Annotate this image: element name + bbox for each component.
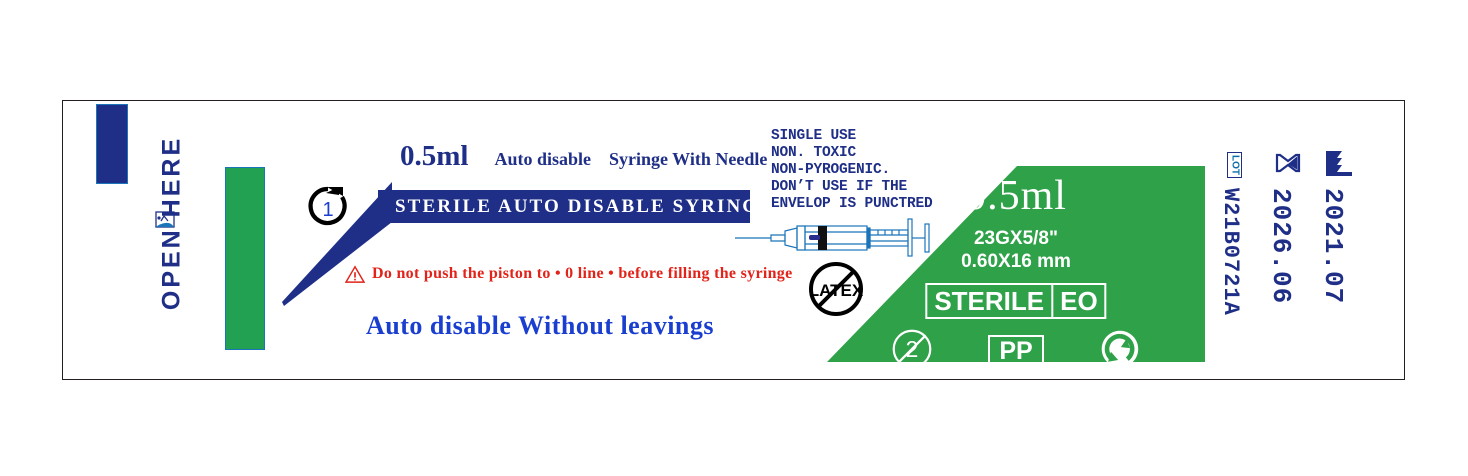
manufacture-date: 2021.07 xyxy=(1318,188,1348,304)
material-pp-badge: PP xyxy=(988,335,1043,367)
factory-icon xyxy=(1324,149,1354,177)
do-not-reuse-icon: 1 xyxy=(305,183,351,229)
notice-line: SINGLE USE xyxy=(771,128,933,145)
lot-symbol-box: LOT xyxy=(1227,152,1242,178)
green-panel-gauge: 23GX5/8" xyxy=(827,228,1205,250)
headline-volume: 0.5ml xyxy=(400,140,468,172)
sterile-label: STERILE xyxy=(927,285,1051,317)
green-panel-content: 0.5ml 23GX5/8" 0.60X16 mm STERILE EO 2 P… xyxy=(827,166,1205,362)
green-panel-volume: 0.5ml xyxy=(827,172,1205,220)
piston-warning-text: Do not push the piston to • 0 line • bef… xyxy=(372,265,793,283)
vertical-strip-dimensions: 0.60X16 mm xyxy=(117,267,130,377)
vertical-strip-gauge: 23GX5/8" xyxy=(101,267,117,377)
do-not-reuse-digit: 1 xyxy=(322,199,333,221)
sterile-banner: STERILE AUTO DISABLE SYRINGE xyxy=(378,190,750,223)
headline-row: 0.5ml Auto disable Syringe With Needle xyxy=(400,140,767,173)
hourglass-icon xyxy=(1275,150,1301,176)
lot-label: LOT xyxy=(1229,155,1240,175)
notice-line: NON. TOXIC xyxy=(771,145,933,162)
headline-device: Syringe With Needle xyxy=(609,149,767,169)
tagline: Auto disable Without leavings xyxy=(366,311,714,341)
piston-warning: Do not push the piston to • 0 line • bef… xyxy=(345,265,793,283)
sterile-method: EO xyxy=(1051,285,1105,317)
green-spec-panel: 0.5ml 23GX5/8" 0.60X16 mm STERILE EO 2 P… xyxy=(827,166,1205,362)
expiry-date: 2026.06 xyxy=(1266,188,1296,304)
recycle-arrow-icon xyxy=(1099,328,1141,375)
sterile-eo-badge: STERILE EO xyxy=(925,283,1106,319)
green-panel-dimensions: 0.60X16 mm xyxy=(827,251,1205,273)
vertical-strip-specs: 23GX5/8" 0.60X16 mm xyxy=(101,267,130,377)
do-not-reuse-2-icon: 2 xyxy=(891,328,933,375)
vertical-green-strip: 0.5ml 23GX5/8" 0.60X16 mm xyxy=(225,167,265,350)
green-panel-symbol-row: 2 PP xyxy=(891,328,1141,375)
lot-number: W21B0721A xyxy=(1218,188,1243,316)
sterile-banner-text: STERILE AUTO DISABLE SYRINGE xyxy=(395,196,774,218)
peel-open-icon xyxy=(153,206,177,230)
warning-triangle-icon xyxy=(345,265,365,283)
headline-type: Auto disable xyxy=(494,149,591,169)
